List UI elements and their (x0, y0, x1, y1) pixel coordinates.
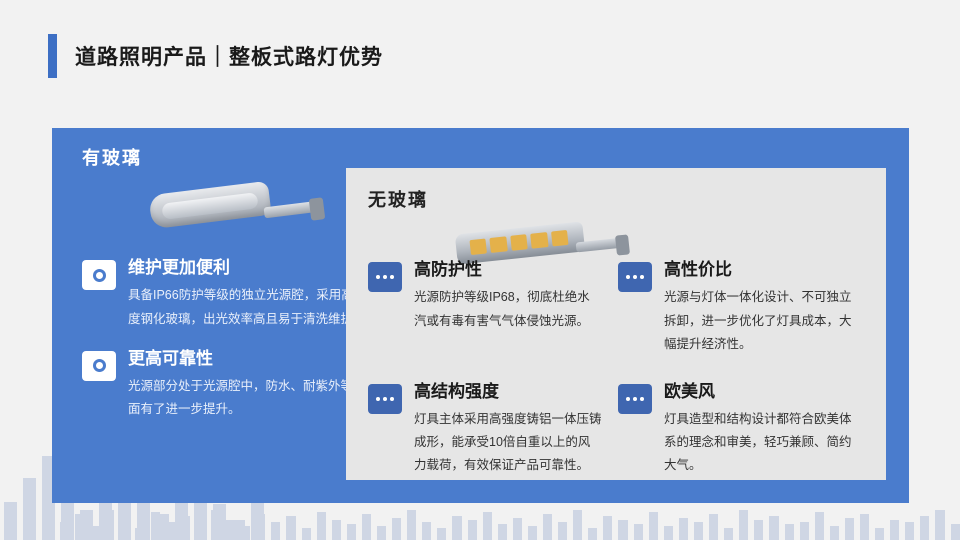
decorative-bar (181, 516, 190, 540)
right-column-heading: 无玻璃 (368, 186, 864, 212)
feature-cell: 高性价比 光源与灯体一体化设计、不可独立拆卸，进一步优化了灯具成本，大幅提升经济… (618, 260, 868, 356)
feature-cell: 高防护性 光源防护等级IP68，彻底杜绝水汽或有毒有害气气体侵蚀光源。 (368, 260, 618, 356)
decorative-bar (679, 518, 688, 540)
decorative-bar (302, 528, 311, 540)
feature-item: 维护更加便利 具备IP66防护等级的独立光源腔，采用高强度钢化玻璃，出光效率高且… (82, 258, 367, 331)
decorative-bar (739, 510, 748, 540)
decorative-bar (483, 512, 492, 540)
ring-dot-icon (82, 351, 116, 381)
decorative-bar (120, 518, 129, 540)
decorative-bar (286, 516, 295, 540)
decorative-bar (935, 510, 944, 540)
decorative-bar (694, 522, 703, 540)
feature-description: 光源部分处于光源腔中，防水、耐紫外等方面有了进一步提升。 (128, 375, 367, 421)
decorative-bar (407, 510, 416, 540)
feature-cell: 高结构强度 灯具主体采用高强度铸铝一体压铸成形，能承受10倍自重以上的风力载荷，… (368, 356, 618, 478)
decorative-bar (785, 524, 794, 540)
ring-dot-icon (82, 260, 116, 290)
street-lamp-with-glass-icon (146, 176, 326, 236)
decorative-bar (452, 516, 461, 540)
feature-title: 高性价比 (664, 260, 852, 280)
decorative-bar (543, 514, 552, 540)
feature-description: 具备IP66防护等级的独立光源腔，采用高强度钢化玻璃，出光效率高且易于清洗维护。 (128, 284, 367, 330)
feature-item: 高性价比 光源与灯体一体化设计、不可独立拆卸，进一步优化了灯具成本，大幅提升经济… (618, 260, 852, 356)
decorative-bar (241, 526, 250, 540)
decorative-bar (4, 502, 17, 540)
decorative-bar (709, 514, 718, 540)
decorative-bar (800, 522, 809, 540)
feature-title: 维护更加便利 (128, 258, 367, 278)
feature-item: 欧美风 灯具造型和结构设计都符合欧美体系的理念和审美，轻巧兼顾、简约大气。 (618, 382, 852, 478)
slide-title-bar: 道路照明产品｜整板式路灯优势 (48, 34, 383, 78)
decorative-bar (875, 528, 884, 540)
decorative-bar (498, 524, 507, 540)
decorative-bar (377, 526, 386, 540)
decorative-bar (332, 520, 341, 540)
decorative-bar (664, 526, 673, 540)
decorative-bar (724, 528, 733, 540)
three-dots-icon (368, 384, 402, 414)
decorative-bar (60, 522, 69, 540)
right-card: 无玻璃 高防护性 光源防护等级IP68，彻底杜绝水汽或有毒有害气气体侵蚀光源。 (346, 168, 886, 480)
left-column-heading: 有玻璃 (82, 144, 367, 170)
three-dots-icon (618, 384, 652, 414)
feature-description: 光源防护等级IP68，彻底杜绝水汽或有毒有害气气体侵蚀光源。 (414, 286, 602, 332)
decorative-bar (769, 516, 778, 540)
decorative-bar (618, 520, 627, 540)
lamp-with-glass-illustration (82, 170, 367, 240)
decorative-bars-bottom (60, 508, 960, 540)
feature-description: 灯具造型和结构设计都符合欧美体系的理念和审美，轻巧兼顾、简约大气。 (664, 408, 852, 477)
feature-item: 更高可靠性 光源部分处于光源腔中，防水、耐紫外等方面有了进一步提升。 (82, 349, 367, 422)
decorative-bar (920, 516, 929, 540)
decorative-bar (226, 520, 235, 540)
decorative-bar (392, 518, 401, 540)
decorative-bar (468, 520, 477, 540)
decorative-bar (634, 524, 643, 540)
decorative-bar (603, 516, 612, 540)
decorative-bar (513, 518, 522, 540)
decorative-bar (573, 510, 582, 540)
left-column: 有玻璃 维护更加便利 具备IP66防护等级的独立光源腔，采用高强度钢化玻璃，出光… (82, 144, 367, 421)
content-panel: 有玻璃 维护更加便利 具备IP66防护等级的独立光源腔，采用高强度钢化玻璃，出光… (52, 128, 909, 503)
decorative-bar (815, 512, 824, 540)
decorative-bar (422, 522, 431, 540)
right-feature-grid: 高防护性 光源防护等级IP68，彻底杜绝水汽或有毒有害气气体侵蚀光源。 高性价比… (368, 260, 868, 478)
feature-item: 高防护性 光源防护等级IP68，彻底杜绝水汽或有毒有害气气体侵蚀光源。 (368, 260, 602, 333)
feature-item: 高结构强度 灯具主体采用高强度铸铝一体压铸成形，能承受10倍自重以上的风力载荷，… (368, 382, 602, 478)
decorative-bar (23, 478, 36, 540)
title-accent-bar (48, 34, 57, 78)
decorative-bar (890, 520, 899, 540)
feature-title: 更高可靠性 (128, 349, 367, 369)
feature-cell: 欧美风 灯具造型和结构设计都符合欧美体系的理念和审美，轻巧兼顾、简约大气。 (618, 356, 868, 478)
decorative-bar (754, 520, 763, 540)
decorative-bar (151, 512, 160, 540)
feature-title: 高防护性 (414, 260, 602, 280)
decorative-bar (362, 514, 371, 540)
decorative-bar (90, 526, 99, 540)
decorative-bar (845, 518, 854, 540)
decorative-bar (196, 524, 205, 540)
decorative-bar (951, 524, 960, 540)
decorative-bar (75, 514, 84, 540)
decorative-bar (830, 526, 839, 540)
decorative-bar (649, 512, 658, 540)
decorative-bar (558, 522, 567, 540)
feature-description: 光源与灯体一体化设计、不可独立拆卸，进一步优化了灯具成本，大幅提升经济性。 (664, 286, 852, 355)
decorative-bar (211, 510, 220, 540)
decorative-bar (135, 528, 144, 540)
decorative-bar (166, 522, 175, 540)
three-dots-icon (368, 262, 402, 292)
feature-title: 高结构强度 (414, 382, 602, 402)
feature-title: 欧美风 (664, 382, 852, 402)
page-title: 道路照明产品｜整板式路灯优势 (75, 41, 383, 71)
feature-description: 灯具主体采用高强度铸铝一体压铸成形，能承受10倍自重以上的风力载荷，有效保证产品… (414, 408, 602, 477)
decorative-bar (271, 522, 280, 540)
three-dots-icon (618, 262, 652, 292)
decorative-bar (256, 514, 265, 540)
decorative-bar (105, 510, 114, 540)
decorative-bar (317, 512, 326, 540)
decorative-bar (860, 514, 869, 540)
decorative-bar (588, 528, 597, 540)
decorative-bar (437, 528, 446, 540)
decorative-bar (347, 524, 356, 540)
decorative-bar (905, 522, 914, 540)
decorative-bar (528, 526, 537, 540)
